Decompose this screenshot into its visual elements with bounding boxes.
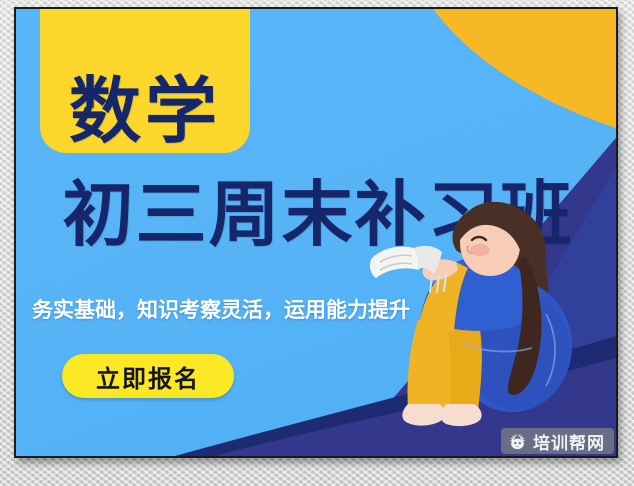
sun-face-icon xyxy=(508,432,527,451)
watermark: 培训帮网 xyxy=(501,428,614,454)
page-backdrop: 数学 初三周末补习班 务实基础，知识考察灵活，运用能力提升 立即报名 xyxy=(0,0,634,486)
subject-badge: 数学 xyxy=(40,7,250,153)
subtitle-text: 务实基础，知识考察灵活，运用能力提升 xyxy=(32,299,410,322)
poster: 数学 初三周末补习班 务实基础，知识考察灵活，运用能力提升 立即报名 xyxy=(14,7,618,458)
watermark-label: 培训帮网 xyxy=(533,429,605,454)
page-title: 初三周末补习班 xyxy=(26,179,610,250)
signup-button-label: 立即报名 xyxy=(96,359,200,394)
signup-button[interactable]: 立即报名 xyxy=(62,354,234,398)
subject-badge-label: 数学 xyxy=(69,75,221,147)
